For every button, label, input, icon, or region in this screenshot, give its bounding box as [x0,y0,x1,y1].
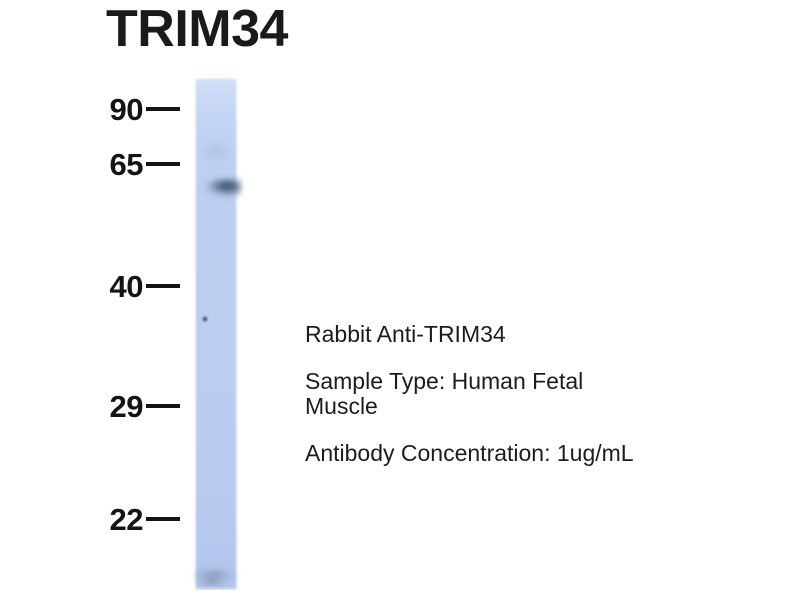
ladder-marker-label: 29 [110,391,143,422]
ladder-marker-65: 65 [70,147,180,181]
ladder-marker-label: 22 [110,504,143,535]
ladder-marker-label: 65 [110,149,143,180]
ladder-dash-icon [146,404,180,408]
annotation-block: Rabbit Anti-TRIM34 Sample Type: Human Fe… [305,322,745,466]
ladder-dash-icon [146,162,180,166]
ladder-dash-icon [146,517,180,521]
annotation-sample-type: Sample Type: Human Fetal Muscle [305,369,745,419]
annotation-antibody-concentration: Antibody Concentration: 1ug/mL [305,441,745,466]
annotation-antibody-name: Rabbit Anti-TRIM34 [305,322,745,347]
ladder-marker-29: 29 [70,389,180,423]
ladder-marker-22: 22 [70,502,180,536]
ladder-dash-icon [146,107,180,111]
band-haze-upper [196,136,236,166]
ladder-marker-label: 40 [110,271,143,302]
page-title: TRIM34 [106,2,288,57]
ladder-marker-90: 90 [70,92,180,126]
primary-band-core [204,179,236,192]
ladder-dash-icon [146,284,180,288]
speck-artifact [202,316,208,322]
ladder-marker-label: 90 [110,94,143,125]
ladder-marker-40: 40 [70,269,180,303]
dye-front-smudge-core [198,576,232,588]
blot-lane [194,78,238,590]
western-blot-figure: TRIM34 90 65 40 29 22 [0,0,800,600]
